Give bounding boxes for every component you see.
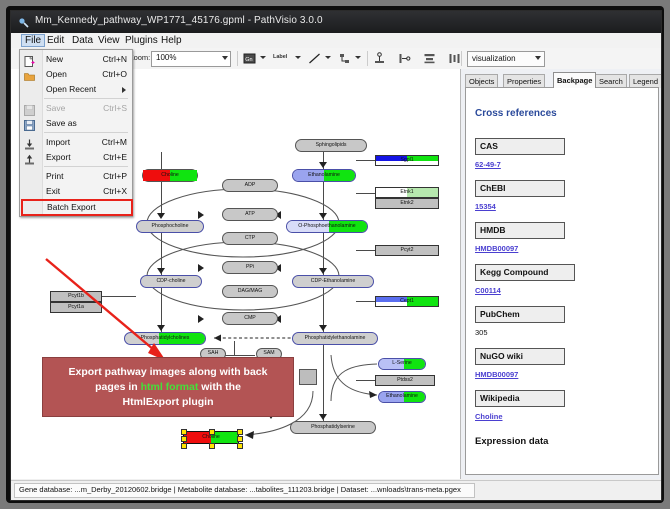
menu-separator (44, 132, 128, 133)
db-label-kegg-compound: Kegg Compound (475, 264, 575, 281)
metabolite-node-phosphatidylserine[interactable]: Phosphatidylserine (290, 421, 376, 434)
menu-edit[interactable]: Edit (43, 34, 68, 47)
interaction-anchor (299, 369, 317, 385)
datanode-tool-icon[interactable]: Gn (243, 52, 256, 65)
tab-properties[interactable]: Properties (503, 74, 545, 88)
edge (356, 193, 376, 194)
db-link-nugo-wiki[interactable]: HMDB00097 (475, 370, 518, 379)
selection-handle[interactable] (237, 443, 243, 449)
menu-data[interactable]: Data (68, 34, 97, 47)
selection-handle[interactable] (181, 443, 187, 449)
menu-item-open[interactable]: Open Ctrl+O (20, 67, 132, 82)
chevron-down-icon[interactable] (260, 56, 266, 59)
selection-handle[interactable] (237, 429, 243, 435)
chevron-down-icon[interactable] (295, 56, 301, 59)
db-value-pubchem: 305 (475, 328, 488, 337)
visualization-value: visualization (472, 54, 516, 63)
screenshot-root: Mm_Kennedy_pathway_WP1771_45176.gpml - P… (0, 0, 670, 509)
menu-item-save-as[interactable]: Save as (20, 116, 132, 131)
edge (356, 160, 376, 161)
metabolite-node-phosphocholine[interactable]: Phosphocholine (136, 220, 204, 233)
pathvisio-window: Mm_Kennedy_pathway_WP1771_45176.gpml - P… (10, 10, 662, 501)
metabolite-node-ppi[interactable]: PPi (222, 261, 278, 274)
annotation-highlight: html format (141, 381, 199, 393)
window-title: Mm_Kennedy_pathway_WP1771_45176.gpml - P… (35, 15, 323, 26)
cross-references-heading: Cross references (475, 108, 557, 119)
save-as-icon (24, 118, 35, 129)
menu-item-export[interactable]: Export Ctrl+E (20, 150, 132, 165)
menu-item-save: Save Ctrl+S (20, 101, 132, 116)
tab-search[interactable]: Search (595, 74, 627, 88)
file-menu-dropdown[interactable]: New Ctrl+N Open Ctrl+O Open Recent Save … (19, 49, 133, 217)
menu-item-print[interactable]: Print Ctrl+P (20, 169, 132, 184)
edge (356, 250, 376, 251)
chevron-down-icon (535, 56, 541, 60)
zoom-value: 100% (156, 53, 176, 62)
arrowhead (198, 211, 204, 219)
metabolite-node-cmp[interactable]: CMP (222, 312, 278, 325)
menu-help[interactable]: Help (157, 34, 186, 47)
chevron-down-icon[interactable] (355, 56, 361, 59)
save-disk-icon (24, 103, 35, 114)
annotation-line2-prefix: pages in (95, 381, 141, 393)
db-label-chebi: ChEBI (475, 180, 565, 197)
gene-node-pcyt2[interactable]: Pcyt2 (375, 245, 439, 256)
import-icon (24, 137, 35, 148)
arrowhead (319, 325, 327, 331)
metabolite-node-choline-selected[interactable]: Choline (183, 431, 239, 444)
metabolite-node-ethanolamine[interactable]: Ethanolamine (292, 169, 356, 182)
edge (161, 152, 162, 169)
menu-separator (44, 98, 128, 99)
tab-backpage[interactable]: Backpage (553, 72, 596, 88)
gene-node-sgpl1[interactable]: Sgpl1 (375, 155, 439, 166)
selection-handle[interactable] (181, 436, 187, 442)
status-text-container: Gene database: ...m_Derby_20120602.bridg… (14, 483, 475, 498)
menu-item-open-recent[interactable]: Open Recent (20, 82, 132, 97)
metabolite-node-adp[interactable]: ADP (222, 179, 278, 192)
db-label-wikipedia: Wikipedia (475, 390, 565, 407)
annotation-line2-suffix: with the (198, 381, 241, 393)
db-label-cas: CAS (475, 138, 565, 155)
chevron-down-icon[interactable] (325, 56, 331, 59)
backpage-panel: Cross references CAS 62-49-7 ChEBI 15354… (465, 87, 659, 475)
selection-handle[interactable] (209, 429, 215, 435)
status-text: Gene database: ...m_Derby_20120602.bridg… (19, 485, 461, 494)
metabolite-node-l-serine[interactable]: L-Serine (378, 358, 426, 370)
db-label-hmdb: HMDB (475, 222, 565, 239)
gene-node-etnk2[interactable]: Etnk2 (375, 198, 439, 209)
tab-legend[interactable]: Legend (629, 74, 662, 88)
edge (234, 341, 235, 355)
arrowhead (198, 315, 204, 323)
toolbar-separator (367, 51, 368, 66)
menu-separator (44, 166, 128, 167)
db-label-pubchem: PubChem (475, 306, 565, 323)
red-callout-arrow (42, 255, 178, 373)
sidebar: Objects Properties Backpage Search Legen… (461, 69, 661, 479)
interaction-tool-icon[interactable] (338, 52, 351, 65)
chevron-right-icon (122, 87, 126, 93)
menu-file[interactable]: File (21, 34, 45, 47)
db-link-wikipedia[interactable]: Choline (475, 412, 503, 421)
distribute-icon[interactable] (448, 52, 461, 65)
svg-text:Gn: Gn (245, 57, 252, 63)
arrowhead (319, 162, 327, 168)
metabolite-node-cdp-ethanolamine[interactable]: CDP-Ethanolamine (292, 275, 374, 288)
status-bar: Gene database: ...m_Derby_20120602.bridg… (11, 480, 661, 501)
sidebar-tabs: Objects Properties Backpage Search Legen… (465, 72, 659, 87)
metabolite-node-phosphatidylethanolamine[interactable]: Phosphatidylethanolamine (292, 332, 378, 345)
metabolite-node-o-phosphoethanolamine[interactable]: O-Phosphoethanolamine (286, 220, 368, 233)
new-file-icon (24, 54, 35, 65)
menu-item-exit[interactable]: Exit Ctrl+X (20, 184, 132, 199)
menu-view[interactable]: View (94, 34, 124, 47)
gene-node-cept1[interactable]: Cept1 (375, 296, 439, 307)
align-stack-icon[interactable] (423, 52, 436, 65)
toolbar-separator (461, 51, 462, 66)
align-left-icon[interactable] (398, 52, 411, 65)
edge (356, 301, 376, 302)
visualization-dropdown[interactable]: visualization (467, 51, 545, 67)
metabolite-node-choline[interactable]: Choline (142, 169, 198, 182)
db-label-nugo-wiki: NuGO wiki (475, 348, 565, 365)
metabolite-node-sphingolipids[interactable]: Sphingolipids (295, 139, 367, 152)
selection-handle[interactable] (181, 429, 187, 435)
metabolite-node-dag-mag[interactable]: DAG/MAG (222, 285, 278, 298)
chevron-down-icon (222, 56, 228, 60)
menu-plugins[interactable]: Plugins (121, 34, 162, 47)
toolbar-separator (237, 51, 238, 66)
pathvisio-icon (18, 16, 30, 28)
menu-item-new[interactable]: New Ctrl+N (20, 52, 132, 67)
arrowhead (198, 264, 204, 272)
align-top-icon[interactable] (373, 52, 386, 65)
zoom-dropdown[interactable]: 100% (151, 51, 231, 67)
line-tool-icon[interactable] (308, 52, 321, 65)
annotation-text: Export pathway images along with back pa… (63, 365, 274, 410)
selection-handle[interactable] (237, 436, 243, 442)
menu-bar: File Edit Data View Plugins Help (11, 33, 661, 49)
menu-item-import[interactable]: Import Ctrl+M (20, 135, 132, 150)
open-folder-icon (24, 69, 35, 80)
methylation-edge (206, 331, 298, 347)
db-link-hmdb[interactable]: HMDB00097 (475, 244, 518, 253)
db-link-cas[interactable]: 62-49-7 (475, 160, 501, 169)
annotation-callout: Export pathway images along with back pa… (42, 357, 294, 417)
export-icon (24, 152, 35, 163)
tab-objects[interactable]: Objects (465, 74, 498, 88)
expression-data-heading: Expression data (475, 436, 548, 447)
metabolite-node-ctp[interactable]: CTP (222, 232, 278, 245)
db-link-kegg-compound[interactable]: C00114 (475, 286, 501, 295)
label-tool-label[interactable]: Label (273, 54, 287, 60)
annotation-line3: HtmlExport plugin (123, 396, 214, 408)
gene-node-etnk1[interactable]: Etnk1 (375, 187, 439, 198)
menu-item-batch-export[interactable]: Batch Export (21, 199, 133, 216)
db-link-chebi[interactable]: 15354 (475, 202, 496, 211)
gene-node-ptdss2[interactable]: Ptdss2 (375, 375, 435, 386)
metabolite-node-atp[interactable]: ATP (222, 208, 278, 221)
annotation-line1: Export pathway images along with back (69, 366, 268, 378)
metabolite-node-ethanolamine-2[interactable]: Ethanolamine (378, 391, 426, 403)
title-bar: Mm_Kennedy_pathway_WP1771_45176.gpml - P… (11, 11, 661, 33)
selection-handle[interactable] (209, 443, 215, 449)
